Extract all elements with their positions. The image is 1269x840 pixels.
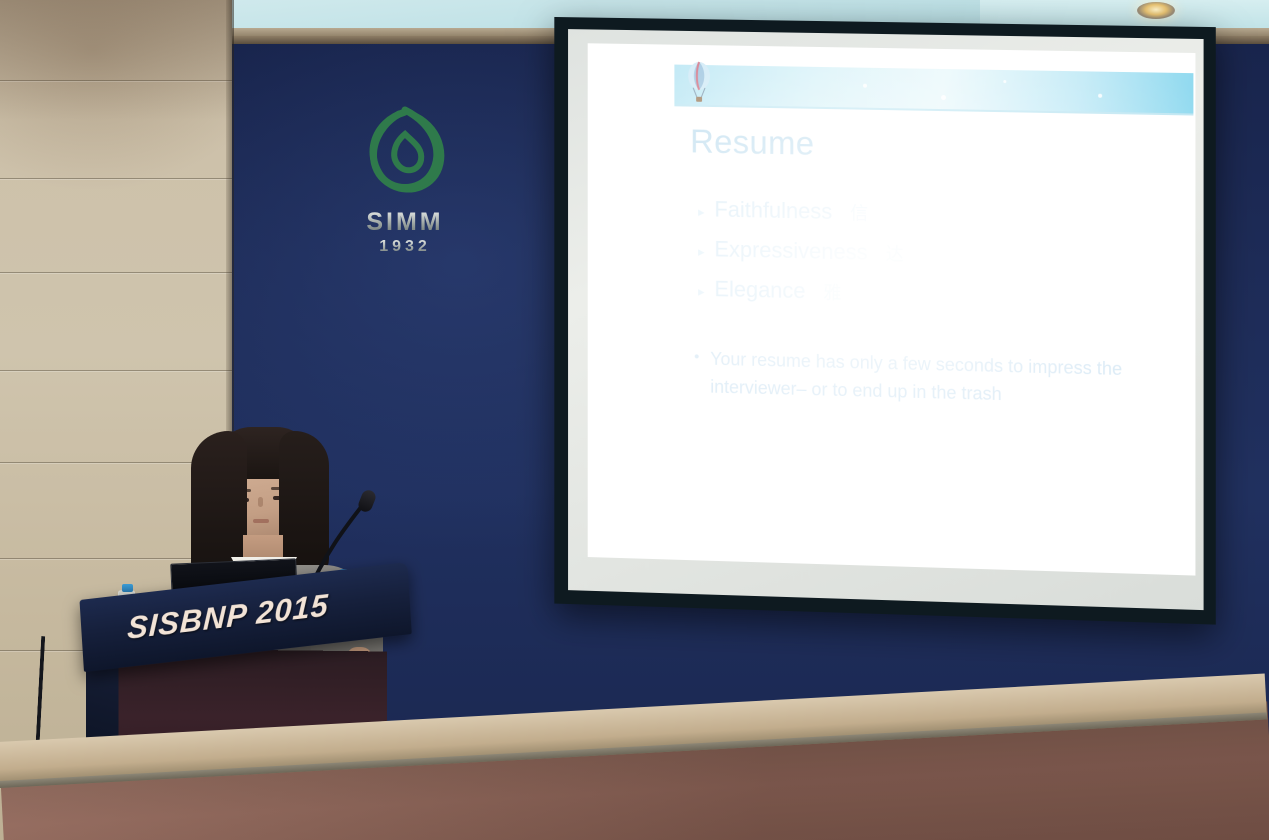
mouth bbox=[253, 519, 269, 523]
bullet-text: Expressiveness bbox=[714, 236, 867, 265]
slide-header-banner bbox=[674, 65, 1193, 116]
screen-surface: Resume ▸ Faithfulness 信 ▸ Expressiveness… bbox=[568, 29, 1204, 610]
bullet-marker-icon: • bbox=[694, 345, 699, 401]
bullet-text-cn: 雅 bbox=[823, 279, 841, 305]
slide-paragraph: • Your resume has only a few seconds to … bbox=[694, 345, 1124, 412]
bullet-text: Elegance bbox=[714, 276, 805, 304]
list-item: ▸ Expressiveness 达 bbox=[698, 236, 1169, 272]
list-item: ▸ Faithfulness 信 bbox=[698, 196, 1169, 232]
simm-logo: SIMM 1932 bbox=[340, 100, 470, 260]
recessed-downlight-icon bbox=[1137, 2, 1175, 19]
bullet-text-cn: 信 bbox=[850, 199, 868, 225]
simm-wordmark: SIMM bbox=[340, 208, 470, 237]
slide-title: Resume bbox=[690, 123, 814, 163]
hot-air-balloon-icon bbox=[686, 61, 712, 105]
podium-label: SISBNP 2015 bbox=[127, 587, 330, 647]
bullet-marker-icon: ▸ bbox=[698, 244, 704, 260]
simm-year: 1932 bbox=[340, 238, 470, 256]
bullet-text: Faithfulness bbox=[714, 197, 832, 225]
bullet-marker-icon: ▸ bbox=[698, 284, 704, 300]
slide-bullet-list: ▸ Faithfulness 信 ▸ Expressiveness 达 ▸ El… bbox=[698, 196, 1169, 327]
bullet-text-cn: 达 bbox=[886, 240, 904, 266]
slide-paragraph-text: Your resume has only a few seconds to im… bbox=[710, 346, 1124, 412]
list-item: ▸ Elegance 雅 bbox=[698, 276, 1169, 313]
bullet-marker-icon: ▸ bbox=[698, 204, 704, 220]
simm-emblem-icon bbox=[353, 100, 457, 204]
presentation-slide: Resume ▸ Faithfulness 信 ▸ Expressiveness… bbox=[588, 43, 1196, 575]
nose bbox=[258, 497, 263, 507]
projection-screen: Resume ▸ Faithfulness 信 ▸ Expressiveness… bbox=[554, 17, 1215, 625]
conference-room-photo: SIMM 1932 Resum bbox=[0, 0, 1269, 840]
